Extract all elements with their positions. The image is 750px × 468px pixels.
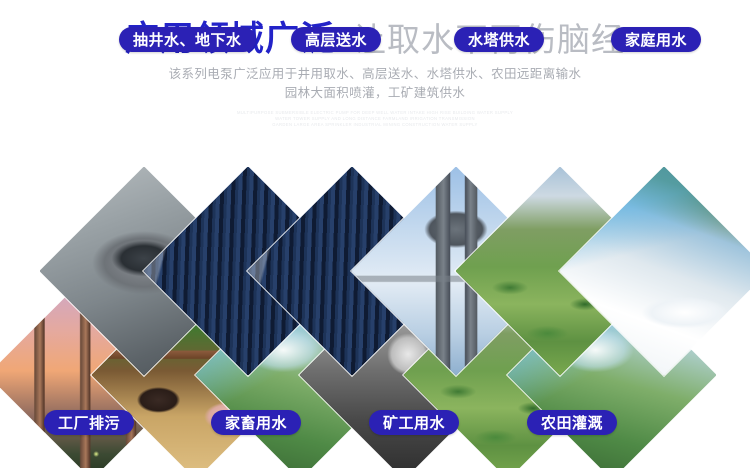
- badge-highrise-label: 高层送水: [305, 29, 367, 50]
- promo-banner: 应用领域广泛让取水不再伤脑经 该系列电泵广泛应用于井用取水、高层送水、水塔供水、…: [0, 0, 750, 468]
- badge-miner[interactable]: 矿工用水: [369, 410, 459, 435]
- badge-well[interactable]: 抽井水、地下水: [119, 27, 256, 52]
- badge-well-label: 抽井水、地下水: [133, 29, 242, 50]
- badge-highrise[interactable]: 高层送水: [291, 27, 381, 52]
- badge-miner-label: 矿工用水: [383, 412, 445, 433]
- badge-watertower[interactable]: 水塔供水: [454, 27, 544, 52]
- badge-factory-label: 工厂排污: [58, 412, 120, 433]
- diamond-mosaic: [0, 183, 750, 445]
- badge-farmland-label: 农田灌溉: [541, 412, 603, 433]
- subtitle-line-1: 该系列电泵广泛应用于井用取水、高层送水、水塔供水、农田远距离输水: [0, 65, 750, 84]
- header: 应用领域广泛让取水不再伤脑经 该系列电泵广泛应用于井用取水、高层送水、水塔供水、…: [0, 0, 750, 129]
- micro-caption-line-3: GARDEN LARGE AREA SPRINKLER INDUSTRIAL M…: [0, 122, 750, 128]
- badge-farmland[interactable]: 农田灌溉: [527, 410, 617, 435]
- badge-household[interactable]: 家庭用水: [611, 27, 701, 52]
- subtitle: 该系列电泵广泛应用于井用取水、高层送水、水塔供水、农田远距离输水 园林大面积喷灌…: [0, 56, 750, 104]
- subtitle-line-2: 园林大面积喷灌，工矿建筑供水: [0, 84, 750, 103]
- badge-household-label: 家庭用水: [625, 29, 687, 50]
- badge-watertower-label: 水塔供水: [468, 29, 530, 50]
- badge-livestock[interactable]: 家畜用水: [211, 410, 301, 435]
- badge-livestock-label: 家畜用水: [225, 412, 287, 433]
- badge-factory[interactable]: 工厂排污: [44, 410, 134, 435]
- micro-caption: MULTIPURPOSE SUBMERSIBLE ELECTRIC PUMP F…: [0, 104, 750, 129]
